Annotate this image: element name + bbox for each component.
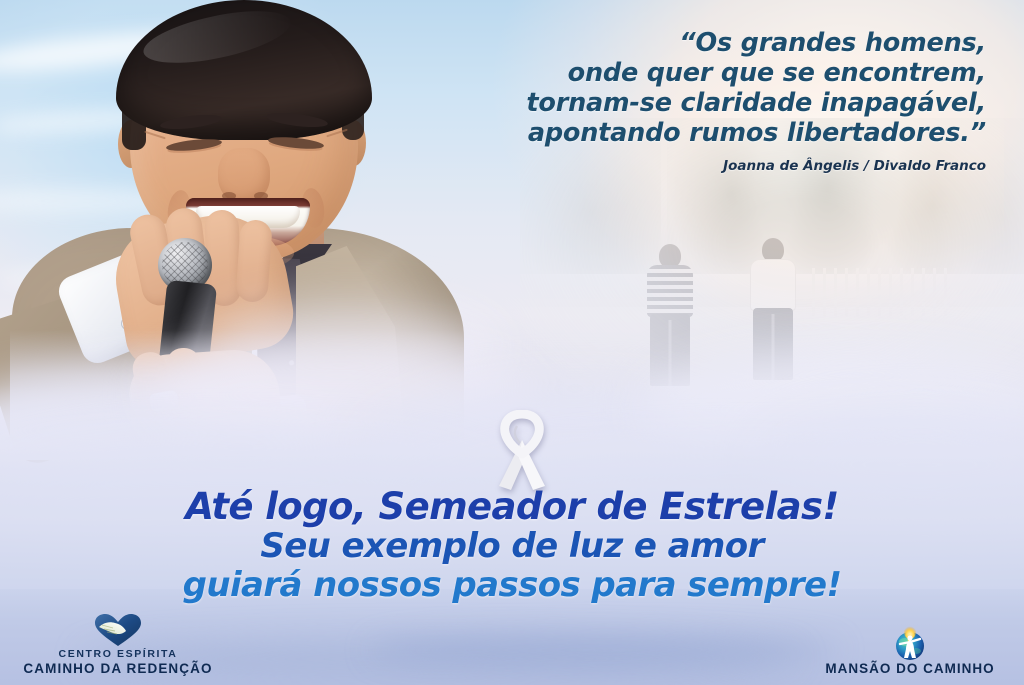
walker-figure <box>747 238 799 394</box>
memorial-ribbon-icon <box>489 410 555 490</box>
headline-line-1: Até logo, Semeador de Estrelas! <box>0 486 1024 527</box>
walker-figure <box>646 244 694 394</box>
quote-line-3: tornam-se claridade inapagável, <box>366 88 986 118</box>
headline-line-3: guiará nossos passos para sempre! <box>0 566 1024 605</box>
quote-block: “Os grandes homens, onde quer que se enc… <box>366 28 986 174</box>
logo-centro-espirita: CENTRO ESPÍRITA CAMINHO DA REDENÇÃO <box>18 612 218 677</box>
headline-line-2: Seu exemplo de luz e amor <box>0 527 1024 566</box>
logo-left-line-1: CENTRO ESPÍRITA <box>18 648 218 661</box>
logo-right-line-2: MANSÃO DO CAMINHO <box>810 661 1010 677</box>
heart-hands-icon <box>18 612 218 648</box>
logo-left-line-2: CAMINHO DA REDENÇÃO <box>18 661 218 677</box>
memorial-poster: “Os grandes homens, onde quer que se enc… <box>0 0 1024 685</box>
globe-figure-icon <box>810 625 1010 661</box>
quote-line-2: onde quer que se encontrem, <box>366 58 986 88</box>
quote-line-1: “Os grandes homens, <box>366 28 986 58</box>
headline-block: Até logo, Semeador de Estrelas! Seu exem… <box>0 486 1024 605</box>
quote-line-4: apontando rumos libertadores.” <box>366 118 986 148</box>
portrait-hair <box>116 0 372 140</box>
quote-attribution: Joanna de Ângelis / Divaldo Franco <box>366 158 986 174</box>
logo-mansao-do-caminho: MANSÃO DO CAMINHO <box>810 625 1010 677</box>
